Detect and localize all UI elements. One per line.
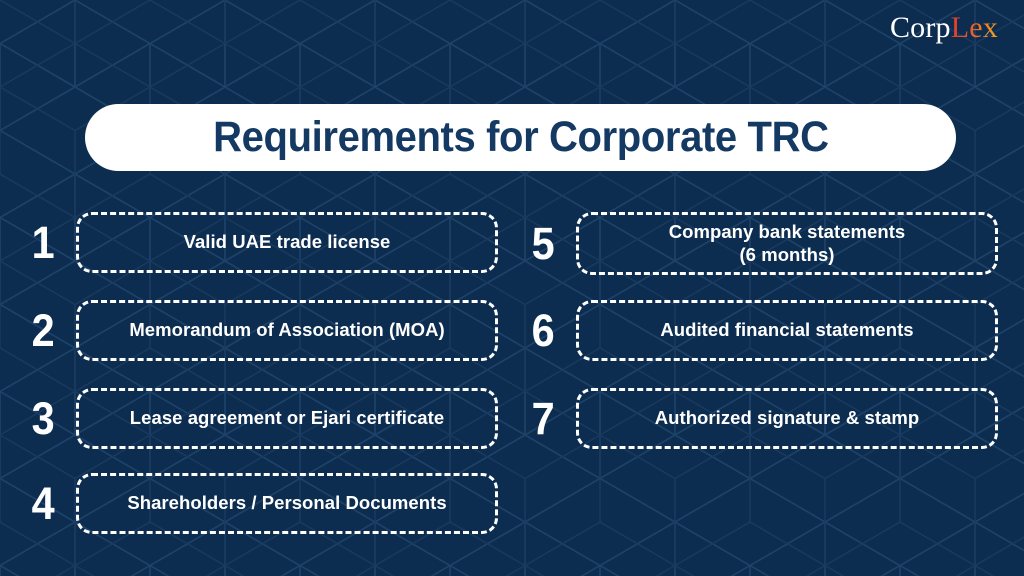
requirement-label: Company bank statements (6 months): [669, 221, 906, 266]
brand-logo: CorpLex: [890, 13, 998, 43]
requirement-label: Audited financial statements: [660, 319, 913, 342]
list-item[interactable]: 2 Memorandum of Association (MOA): [28, 300, 498, 361]
requirement-label: Valid UAE trade license: [184, 231, 391, 254]
requirement-number: 4: [28, 481, 72, 526]
list-item[interactable]: 4 Shareholders / Personal Documents: [28, 473, 498, 534]
requirement-box[interactable]: Lease agreement or Ejari certificate: [76, 388, 498, 449]
brand-logo-corp: Corp: [890, 11, 951, 44]
requirement-label: Shareholders / Personal Documents: [127, 492, 446, 515]
requirement-box[interactable]: Audited financial statements: [576, 300, 998, 361]
requirement-number: 3: [28, 396, 72, 441]
requirement-box[interactable]: Authorized signature & stamp: [576, 388, 998, 449]
requirement-box[interactable]: Valid UAE trade license: [76, 212, 498, 273]
requirement-number: 7: [528, 396, 572, 441]
list-item[interactable]: 6 Audited financial statements: [528, 300, 998, 361]
requirement-number: 1: [28, 220, 72, 265]
list-item[interactable]: 1 Valid UAE trade license: [28, 212, 498, 273]
page-title: Requirements for Corporate TRC: [213, 116, 828, 159]
requirement-box[interactable]: Shareholders / Personal Documents: [76, 473, 498, 534]
list-item[interactable]: 7 Authorized signature & stamp: [528, 388, 998, 449]
requirement-box[interactable]: Company bank statements (6 months): [576, 212, 998, 275]
requirement-label: Memorandum of Association (MOA): [129, 319, 444, 342]
requirement-number: 6: [528, 308, 572, 353]
list-item[interactable]: 5 Company bank statements (6 months): [528, 212, 998, 275]
requirement-number: 5: [528, 221, 572, 266]
slide-canvas: CorpLex Requirements for Corporate TRC 1…: [0, 0, 1024, 576]
list-item[interactable]: 3 Lease agreement or Ejari certificate: [28, 388, 498, 449]
brand-logo-lex: Lex: [951, 11, 998, 44]
requirement-label: Lease agreement or Ejari certificate: [130, 407, 444, 430]
requirement-box[interactable]: Memorandum of Association (MOA): [76, 300, 498, 361]
requirement-label: Authorized signature & stamp: [655, 407, 920, 430]
requirement-number: 2: [28, 308, 72, 353]
title-banner: Requirements for Corporate TRC: [85, 104, 956, 171]
